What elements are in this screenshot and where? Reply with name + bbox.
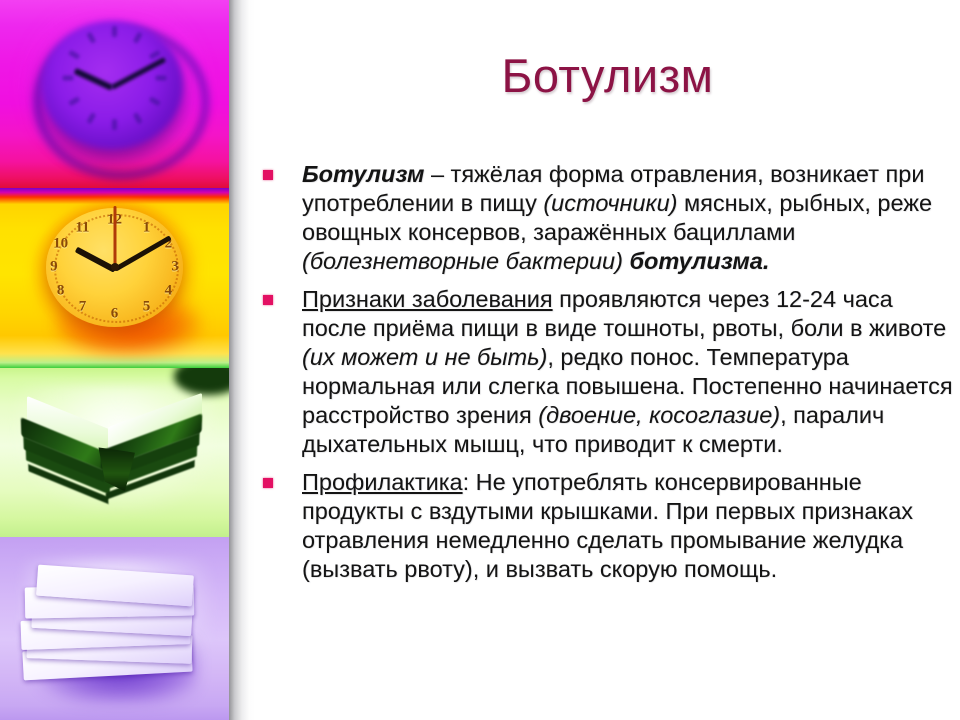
clock-numeral-7: 7 bbox=[79, 298, 87, 315]
bullet-run-emphasis: (двоение, косоглазие) bbox=[538, 402, 780, 428]
bullet-item-symptoms: Признаки заболевания проявляются через 1… bbox=[255, 285, 960, 459]
bullet-list: Ботулизм – тяжёлая форма отравления, воз… bbox=[255, 160, 960, 593]
slide-content: Ботулизм Ботулизм – тяжёлая форма отравл… bbox=[255, 0, 960, 720]
image-strip-shadow bbox=[229, 0, 255, 720]
clock-numeral-9: 9 bbox=[50, 259, 58, 276]
page-title: Ботулизм bbox=[255, 48, 960, 103]
bullet-run-heading: Признаки заболевания bbox=[302, 286, 553, 312]
image-green-open-book bbox=[0, 368, 229, 537]
bullet-item-prevention: Профилактика: Не употреблять консервиров… bbox=[255, 468, 960, 584]
presentation-slide: 12 1 2 3 4 5 6 7 8 9 10 11 bbox=[0, 0, 960, 720]
clock-second-hand bbox=[113, 206, 116, 267]
square-bullet-icon bbox=[263, 478, 273, 488]
clock-numeral-10: 10 bbox=[53, 235, 68, 252]
clock-tick bbox=[63, 76, 74, 81]
clock-tick bbox=[112, 26, 117, 37]
clock-tick bbox=[156, 76, 167, 81]
bullet-run-term: Ботулизм bbox=[302, 161, 424, 187]
clock-numeral-4: 4 bbox=[165, 282, 173, 299]
bullet-run-emphasis: (источники) bbox=[543, 190, 677, 216]
image-blurred-magenta-wall-clock bbox=[0, 0, 229, 188]
bullet-run-term-genitive: ботулизма. bbox=[629, 248, 769, 274]
clock-center-pin bbox=[111, 263, 119, 271]
clock-numeral-8: 8 bbox=[57, 282, 65, 299]
bullet-run-emphasis: (болезнетворные бактерии) bbox=[302, 248, 623, 274]
clock-numeral-5: 5 bbox=[143, 298, 151, 315]
clock-numeral-6: 6 bbox=[111, 306, 119, 323]
image-yellow-orange-wall-clock: 12 1 2 3 4 5 6 7 8 9 10 11 bbox=[0, 188, 229, 368]
clock-numeral-3: 3 bbox=[171, 259, 179, 276]
clock-numeral-11: 11 bbox=[75, 219, 89, 236]
bullet-run-heading: Профилактика bbox=[302, 469, 463, 495]
bullet-item-definition: Ботулизм – тяжёлая форма отравления, воз… bbox=[255, 160, 960, 276]
square-bullet-icon bbox=[263, 295, 273, 305]
clock-numeral-1: 1 bbox=[143, 219, 151, 236]
bullet-run-emphasis: (их может и не быть) bbox=[302, 344, 547, 370]
square-bullet-icon bbox=[263, 170, 273, 180]
image-purple-paper-stack bbox=[0, 537, 229, 720]
image-strip: 12 1 2 3 4 5 6 7 8 9 10 11 bbox=[0, 0, 229, 720]
clock-tick bbox=[112, 119, 117, 130]
